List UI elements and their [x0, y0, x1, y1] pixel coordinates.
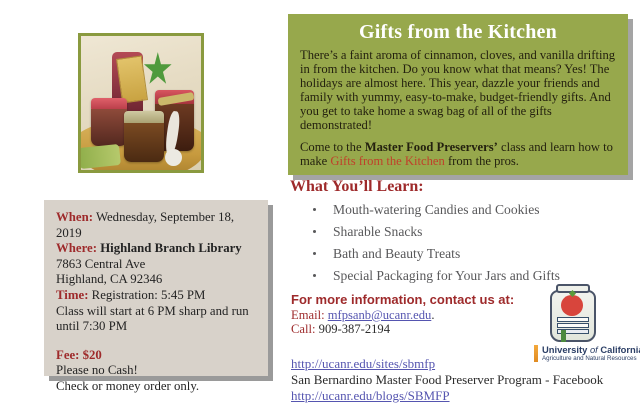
email-label: Email:	[291, 308, 325, 322]
cta-lead: Come to the	[300, 140, 365, 154]
event-time-row: Time: Registration: 5:45 PM	[56, 288, 256, 304]
page-title: Gifts from the Kitchen	[300, 20, 616, 44]
website-link[interactable]: http://ucanr.edu/sites/sbmfp	[291, 356, 435, 371]
event-fee-row: Fee: $20	[56, 348, 256, 364]
photo-jar-body	[91, 109, 127, 146]
event-details-panel: When: Wednesday, September 18, 2019 Wher…	[44, 200, 268, 376]
logo-division-name: Agriculture and Natural Resources	[542, 355, 637, 363]
list-item: Bath and Beauty Treats	[305, 243, 635, 265]
photo-jar-front	[124, 111, 164, 162]
fee-label: Fee: $20	[56, 348, 102, 362]
contact-heading: For more information, contact us at:	[291, 292, 514, 307]
intro-paragraph: There’s a faint aroma of cinnamon, clove…	[300, 49, 616, 132]
mason-jar-icon	[546, 284, 600, 342]
event-fee-note-2: Check or money order only.	[56, 379, 256, 395]
phone-label: Call:	[291, 322, 316, 336]
cta-tail: from the pros.	[445, 154, 519, 168]
where-label: Where:	[56, 241, 97, 255]
bullet-icon	[313, 252, 316, 255]
uc-anr-logo: University of California Agriculture and…	[534, 344, 638, 368]
when-label: When:	[56, 210, 93, 224]
headline-panel: Gifts from the Kitchen There’s a faint a…	[288, 14, 628, 175]
website-url-row: http://ucanr.edu/sites/sbmfp	[291, 356, 435, 371]
contact-phone-row: Call: 909-387-2194	[291, 322, 390, 336]
book-layer	[557, 317, 589, 322]
bullet-icon	[313, 274, 316, 277]
email-period: .	[431, 308, 434, 322]
logo-org-part1: University	[542, 344, 590, 355]
email-link[interactable]: mfpsanb@ucanr.edu	[328, 308, 432, 322]
gift-jars-photo	[78, 33, 204, 173]
event-fee-note-1: Please no Cash!	[56, 363, 256, 379]
learn-list: Mouth-watering Candies and Cookies Shara…	[305, 199, 635, 287]
event-where-row: Where: Highland Branch Library	[56, 241, 256, 257]
strawberry-icon	[561, 295, 583, 316]
book-layer	[557, 329, 589, 334]
learn-heading: What You’ll Learn:	[290, 178, 424, 196]
list-item: Mouth-watering Candies and Cookies	[305, 199, 635, 221]
logo-org-part2: California	[598, 344, 640, 355]
logo-accent-bar	[534, 345, 538, 362]
time-label: Time:	[56, 288, 88, 302]
photo-jar-left	[91, 98, 127, 146]
event-class-line-1: Class will start at 6 PM sharp and run	[56, 304, 256, 320]
time-value: Registration: 5:45 PM	[92, 288, 206, 302]
books-icon	[557, 317, 589, 333]
event-address-line-2: Highland, CA 92346	[56, 272, 256, 288]
cta-class-name: Gifts from the Kitchen	[330, 154, 444, 168]
logo-org-of: of	[590, 344, 598, 355]
phone-number: 909-387-2194	[319, 322, 390, 336]
blog-url-row: http://ucanr.edu/blogs/SBMFP	[291, 388, 450, 403]
facebook-program-row: San Bernardino Master Food Preserver Pro…	[291, 372, 603, 387]
bullet-icon	[313, 230, 316, 233]
bullet-icon	[313, 208, 316, 211]
logo-org-name: University of California	[542, 344, 640, 355]
panel-spacer	[56, 335, 256, 348]
flyer-canvas: Gifts from the Kitchen There’s a faint a…	[0, 0, 640, 416]
list-item-label: Bath and Beauty Treats	[333, 246, 460, 261]
photo-jar-body	[124, 123, 164, 162]
list-item: Sharable Snacks	[305, 221, 635, 243]
where-value: Highland Branch Library	[100, 241, 242, 255]
photo-contents	[81, 36, 201, 170]
book-layer	[557, 323, 589, 328]
list-item-label: Mouth-watering Candies and Cookies	[333, 202, 540, 217]
bookmark-icon	[561, 330, 566, 342]
event-address-line-1: 7863 Central Ave	[56, 257, 256, 273]
photo-spoon-bowl	[165, 149, 182, 166]
event-when-row: When: Wednesday, September 18, 2019	[56, 210, 256, 241]
call-to-action-paragraph: Come to the Master Food Preservers’ clas…	[300, 141, 616, 169]
cta-organization: Master Food Preservers’	[365, 140, 498, 154]
blog-link[interactable]: http://ucanr.edu/blogs/SBMFP	[291, 388, 450, 403]
list-item-label: Sharable Snacks	[333, 224, 422, 239]
contact-email-row: Email: mfpsanb@ucanr.edu.	[291, 308, 434, 322]
event-class-line-2: until 7:30 PM	[56, 319, 256, 335]
list-item-label: Special Packaging for Your Jars and Gift…	[333, 268, 560, 283]
